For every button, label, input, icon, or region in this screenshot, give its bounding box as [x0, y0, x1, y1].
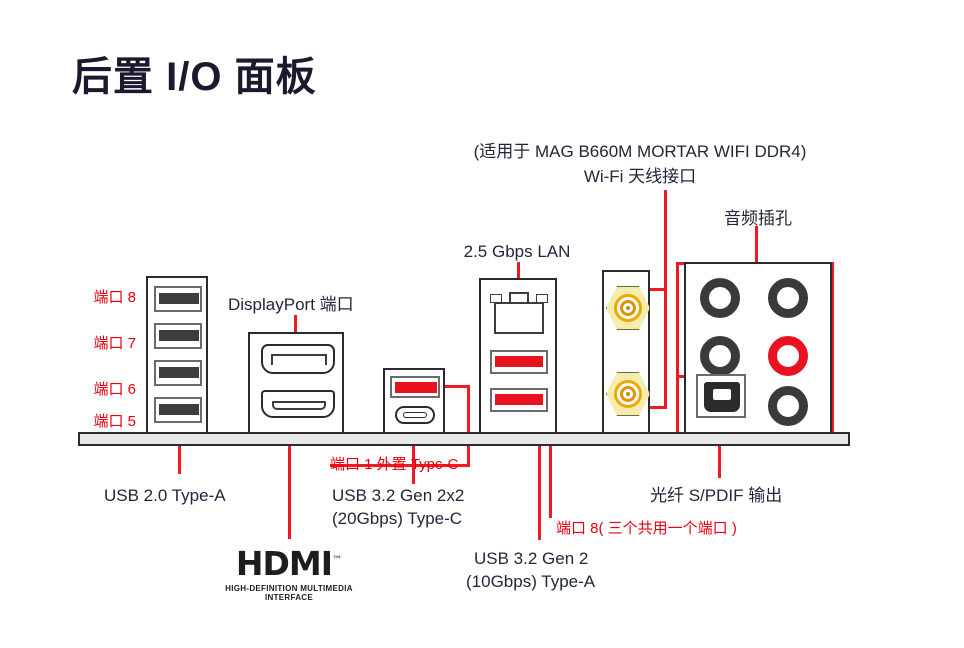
usb2-port-label-7: 端口 7 — [60, 334, 136, 354]
hdmi-wordmark: HDMI™ — [236, 544, 342, 583]
usb32-gen2-port-1-tongue — [495, 356, 543, 367]
wifi-connector-label: Wi-Fi 天线接口 — [440, 166, 840, 189]
wifi-antenna-bracket — [602, 270, 650, 434]
usb32-port-tongue — [395, 382, 437, 393]
leader-line-wifi — [664, 190, 667, 290]
usb2-port-7-tongue — [159, 330, 199, 341]
usb20-typea-label: USB 2.0 Type-A — [104, 485, 226, 508]
usb2-port-label-5: 端口 5 — [60, 412, 136, 432]
port1-external-typec-label: 端口 1 外置 Typc-C — [330, 455, 458, 475]
usb32-gen2-label-line2: (10Gbps) Type-A — [466, 571, 595, 594]
usb32-gen2-label-line1: USB 3.2 Gen 2 — [474, 548, 588, 571]
audio-jack-2[interactable] — [768, 278, 808, 318]
usb32-gen2x2-label-line2: (20Gbps) Type-C — [332, 508, 462, 531]
wifi-antenna-center-pin — [626, 306, 630, 310]
optical-spdif-port[interactable] — [696, 374, 746, 418]
usb32-gen2-type-a-port-1[interactable] — [490, 350, 548, 374]
wifi-antenna-connector-1[interactable] — [606, 286, 650, 330]
usb2-port-stack — [146, 276, 208, 434]
displayport-port-notch — [271, 354, 327, 365]
usb2-port-label-6: 端口 6 — [60, 380, 136, 400]
leader-line-port1-vert — [467, 385, 470, 467]
video-port-stack — [248, 332, 344, 434]
lan-port[interactable] — [490, 290, 548, 336]
hdmi-trademark-icon: ™ — [332, 555, 342, 566]
usb32-gen2-type-a-port-2[interactable] — [490, 388, 548, 412]
usb2-port-5[interactable] — [154, 397, 202, 423]
usb32-type-c-tongue — [403, 412, 427, 418]
audio-jack-block — [684, 262, 832, 434]
usb2-port-6[interactable] — [154, 360, 202, 386]
spdif-label: 光纤 S/PDIF 输出 — [650, 485, 782, 508]
hdmi-logo: HDMI™ HIGH-DEFINITION MULTIMEDIA INTERFA… — [205, 544, 373, 602]
wifi-note-label: (适用于 MAG B660M MORTAR WIFI DDR4) — [440, 141, 840, 164]
audio-jack-1[interactable] — [700, 278, 740, 318]
audio-jack-line-in-red[interactable] — [768, 336, 808, 376]
usb32-typec-stack — [383, 368, 445, 434]
hdmi-tagline: HIGH-DEFINITION MULTIMEDIA INTERFACE — [205, 584, 373, 602]
leader-line-wifi-vert — [664, 288, 667, 409]
hdmi-wordmark-text: HDMI — [236, 544, 332, 583]
usb32-gen2x2-label-line1: USB 3.2 Gen 2x2 — [332, 485, 464, 508]
audio-jack-3[interactable] — [700, 336, 740, 376]
wifi-antenna-connector-2[interactable] — [606, 372, 650, 416]
lan-usb-stack — [479, 278, 557, 434]
usb2-port-7[interactable] — [154, 323, 202, 349]
lan-label: 2.5 Gbps LAN — [432, 241, 602, 264]
hdmi-port-notch — [272, 401, 326, 410]
usb2-port-5-tongue — [159, 404, 199, 415]
usb2-port-label-8: 端口 8 — [60, 288, 136, 308]
page-title: 后置 I/O 面板 — [72, 44, 317, 102]
port8-shared-label: 端口 8( 三个共用一个端口 ) — [556, 519, 737, 539]
audio-jacks-label: 音频插孔 — [668, 208, 848, 231]
usb32-gen2-port-2-tongue — [495, 394, 543, 405]
optical-spdif-port-inner — [704, 382, 740, 412]
audio-jack-5[interactable] — [768, 386, 808, 426]
io-panel-base-bar — [78, 432, 850, 446]
usb32-gen2x2-type-c-port[interactable] — [395, 406, 435, 424]
displayport-label: DisplayPort 端口 — [228, 294, 354, 317]
wifi-antenna-center-pin — [626, 392, 630, 396]
usb2-port-8[interactable] — [154, 286, 202, 312]
lan-port-body — [494, 302, 544, 334]
leader-line-hdmi — [288, 437, 291, 539]
leader-line-usb32gen2 — [538, 440, 541, 540]
displayport-port[interactable] — [261, 344, 335, 374]
leader-line-audio — [755, 226, 758, 262]
usb2-port-6-tongue — [159, 367, 199, 378]
usb2-port-8-tongue — [159, 293, 199, 304]
hdmi-port[interactable] — [261, 390, 335, 418]
usb32-gen2-type-a-port-upper[interactable] — [390, 376, 440, 398]
